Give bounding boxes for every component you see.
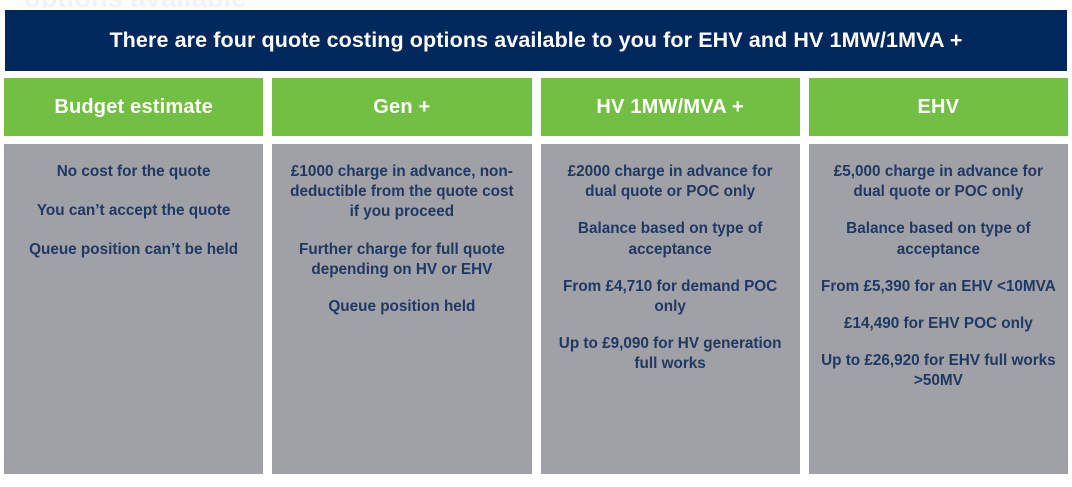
- column-body-budget-estimate: No cost for the quote You can’t accept t…: [4, 144, 263, 474]
- column-header-budget-estimate: Budget estimate: [4, 78, 263, 136]
- list-item: From £4,710 for demand POC only: [553, 277, 788, 317]
- list-item: Up to £9,090 for HV generation full work…: [553, 334, 788, 374]
- column-header-hv-1mw-mva-plus: HV 1MW/MVA +: [541, 78, 800, 136]
- column-body-hv-1mw-mva-plus: £2000 charge in advance for dual quote o…: [541, 144, 800, 474]
- column-header-ehv: EHV: [809, 78, 1068, 136]
- list-item: £1000 charge in advance, non-deductible …: [284, 162, 519, 223]
- list-item: Up to £26,920 for EHV full works >50MV: [821, 351, 1056, 391]
- list-item: Balance based on type of acceptance: [821, 219, 1056, 259]
- slide-canvas: options available There are four quote c…: [0, 0, 1072, 487]
- column-body-ehv: £5,000 charge in advance for dual quote …: [809, 144, 1068, 474]
- column-header-label: Budget estimate: [54, 96, 213, 119]
- option-column-budget-estimate: Budget estimate No cost for the quote Yo…: [4, 78, 263, 474]
- column-body-gen-plus: £1000 charge in advance, non-deductible …: [272, 144, 531, 474]
- list-item: £14,490 for EHV POC only: [821, 314, 1056, 334]
- column-header-label: Gen +: [373, 96, 430, 119]
- list-item: From £5,390 for an EHV <10MVA: [821, 277, 1056, 297]
- options-table: Budget estimate No cost for the quote Yo…: [4, 78, 1068, 474]
- column-header-label: EHV: [918, 96, 960, 119]
- list-item: £5,000 charge in advance for dual quote …: [821, 162, 1056, 202]
- page-title: There are four quote costing options ava…: [109, 28, 962, 53]
- option-column-hv-1mw-mva-plus: HV 1MW/MVA + £2000 charge in advance for…: [541, 78, 800, 474]
- ghost-text-label: options available: [0, 0, 1072, 8]
- column-header-gen-plus: Gen +: [272, 78, 531, 136]
- list-item: Further charge for full quote depending …: [284, 240, 519, 280]
- option-column-gen-plus: Gen + £1000 charge in advance, non-deduc…: [272, 78, 531, 474]
- list-item: £2000 charge in advance for dual quote o…: [553, 162, 788, 202]
- list-item: Queue position can’t be held: [16, 240, 251, 260]
- list-item: No cost for the quote: [16, 162, 251, 182]
- column-header-label: HV 1MW/MVA +: [596, 96, 743, 119]
- list-item: Queue position held: [284, 297, 519, 317]
- ghost-text-artifact: options available: [0, 0, 1072, 8]
- list-item: Balance based on type of acceptance: [553, 219, 788, 259]
- option-column-ehv: EHV £5,000 charge in advance for dual qu…: [809, 78, 1068, 474]
- title-banner: There are four quote costing options ava…: [5, 10, 1067, 71]
- list-item: You can’t accept the quote: [16, 201, 251, 221]
